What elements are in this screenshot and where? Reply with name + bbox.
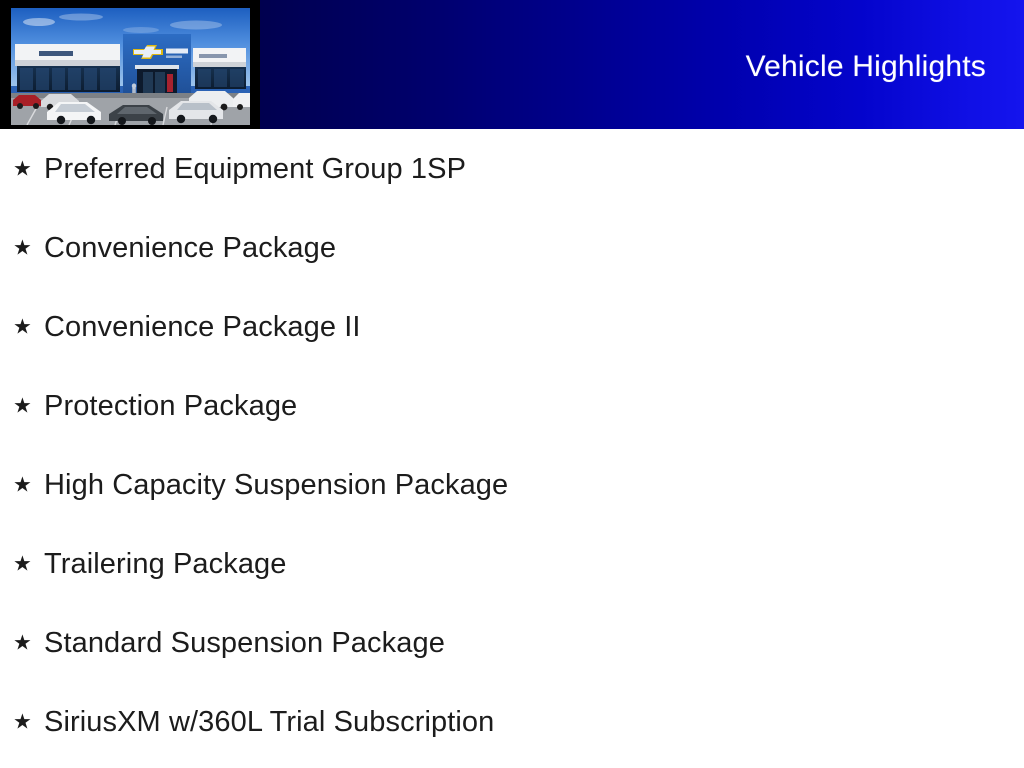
list-item-label: Trailering Package <box>44 547 287 581</box>
list-item: ★ SiriusXM w/360L Trial Subscription <box>0 682 1024 761</box>
list-item: ★ High Capacity Suspension Package <box>0 445 1024 524</box>
list-item: ★ Convenience Package II <box>0 287 1024 366</box>
star-bullet-icon: ★ <box>13 158 32 179</box>
star-bullet-icon: ★ <box>13 632 32 653</box>
list-item: ★ Standard Suspension Package <box>0 603 1024 682</box>
star-bullet-icon: ★ <box>13 395 32 416</box>
page-title: Vehicle Highlights <box>746 49 986 85</box>
list-item-label: Preferred Equipment Group 1SP <box>44 152 466 186</box>
star-bullet-icon: ★ <box>13 474 32 495</box>
list-item: ★ Trailering Package <box>0 524 1024 603</box>
dealership-photo-frame <box>0 0 260 129</box>
vehicle-highlights-list: ★ Preferred Equipment Group 1SP ★ Conven… <box>0 129 1024 761</box>
list-item: ★ Convenience Package <box>0 208 1024 287</box>
vehicle-highlights-slide: Vehicle Highlights ★ Preferred Equipment… <box>0 0 1024 768</box>
list-item-label: Convenience Package <box>44 231 336 265</box>
list-item-label: High Capacity Suspension Package <box>44 468 508 502</box>
dealership-photo-image <box>11 8 250 125</box>
list-item: ★ Protection Package <box>0 366 1024 445</box>
dealership-photo <box>11 8 250 125</box>
header-banner: Vehicle Highlights <box>0 0 1024 129</box>
star-bullet-icon: ★ <box>13 316 32 337</box>
star-bullet-icon: ★ <box>13 711 32 732</box>
list-item: ★ Preferred Equipment Group 1SP <box>0 129 1024 208</box>
list-item-label: Protection Package <box>44 389 297 423</box>
star-bullet-icon: ★ <box>13 553 32 574</box>
list-item-label: Standard Suspension Package <box>44 626 445 660</box>
star-bullet-icon: ★ <box>13 237 32 258</box>
list-item-label: Convenience Package II <box>44 310 361 344</box>
list-item-label: SiriusXM w/360L Trial Subscription <box>44 705 494 739</box>
